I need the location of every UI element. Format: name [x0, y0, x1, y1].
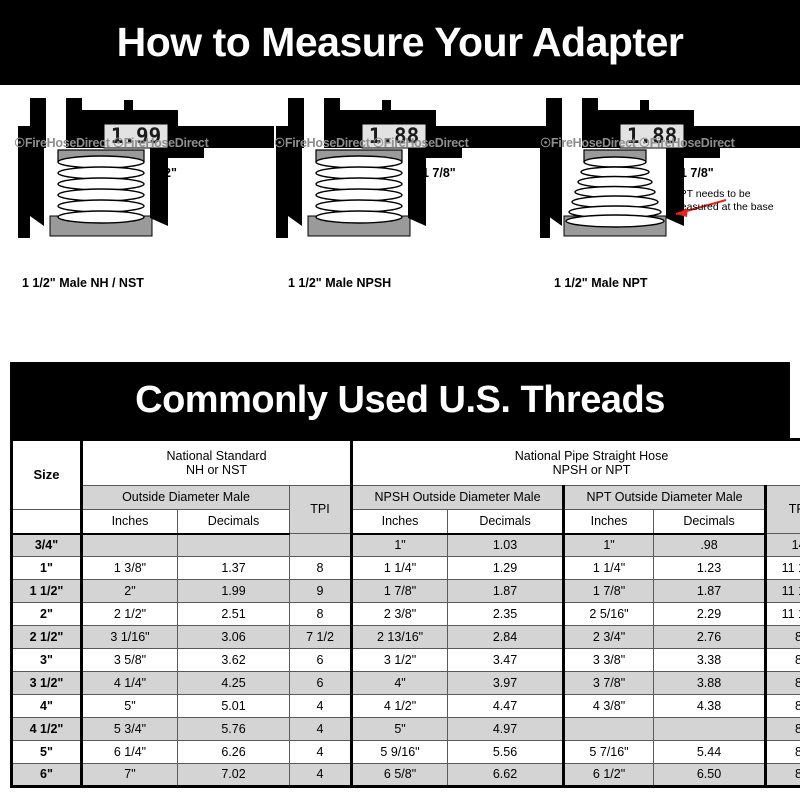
cell-nh-decimals: 2.51: [178, 603, 290, 626]
cell-nh-decimals: 6.26: [178, 741, 290, 764]
cell-npt-inches: 1 7/8": [564, 580, 654, 603]
cell-npt-decimals: 1.87: [654, 580, 766, 603]
cell-size: 3": [12, 649, 82, 672]
col-header-npt-decimals: Decimals: [654, 510, 766, 534]
table-row: 3 1/2"4 1/4"4.2564"3.973 7/8"3.888: [12, 672, 800, 695]
table-row: 2 1/2"3 1/16"3.067 1/22 13/16"2.842 3/4"…: [12, 626, 800, 649]
table-header-row-groups: Size National Standard NH or NST Nationa…: [12, 440, 800, 486]
cell-npt-inches: 6 1/2": [564, 764, 654, 787]
table-row: 5"6 1/4"6.2645 9/16"5.565 7/16"5.448: [12, 741, 800, 764]
measurement-label-nh: 2": [164, 166, 177, 180]
caliper-diagram-strip: FireHoseDirect: [0, 88, 800, 356]
cell-np-tpi: 8: [766, 764, 800, 787]
col-header-np-tpi: TPI: [766, 486, 800, 534]
cell-npsh-inches: 6 5/8": [352, 764, 448, 787]
cell-np-tpi: 14: [766, 534, 800, 557]
caliper-caption-nh: 1 1/2" Male NH / NST: [22, 276, 144, 290]
table-row: 3/4"1"1.031".9814: [12, 534, 800, 557]
col-header-nh-decimals: Decimals: [178, 510, 290, 534]
cell-nh-inches: 4 1/4": [82, 672, 178, 695]
cell-npt-decimals: 3.38: [654, 649, 766, 672]
col-header-size-blank: [12, 510, 82, 534]
cell-nh-tpi: 9: [290, 580, 352, 603]
npt-note-line1: NPT needs to be: [672, 188, 751, 201]
table-row: 2"2 1/2"2.5182 3/8"2.352 5/16"2.2911 1/2: [12, 603, 800, 626]
cell-npt-decimals: [654, 718, 766, 741]
col-header-nh-tpi: TPI: [290, 486, 352, 534]
table-row: 4 1/2"5 3/4"5.7645"4.978: [12, 718, 800, 741]
measurement-label-npt: 1 7/8": [680, 166, 714, 180]
table-row: 1 1/2"2"1.9991 7/8"1.871 7/8"1.8711 1/2: [12, 580, 800, 603]
cell-nh-decimals: 3.62: [178, 649, 290, 672]
cell-npsh-inches: 1 7/8": [352, 580, 448, 603]
cell-npsh-inches: 3 1/2": [352, 649, 448, 672]
cell-nh-decimals: [178, 534, 290, 557]
cell-nh-decimals: 3.06: [178, 626, 290, 649]
cell-size: 4": [12, 695, 82, 718]
cell-npt-decimals: 4.38: [654, 695, 766, 718]
table-body: 3/4"1"1.031".98141"1 3/8"1.3781 1/4"1.29…: [12, 534, 800, 787]
caliper-caption-npt: 1 1/2" Male NPT: [554, 276, 647, 290]
cell-np-tpi: 8: [766, 718, 800, 741]
cell-npsh-decimals: 3.47: [448, 649, 564, 672]
diagram-npt: 1.88 ☉FireHoseDirect ☉FireHoseDirect 1 7…: [540, 88, 800, 356]
cell-nh-inches: 5 3/4": [82, 718, 178, 741]
group-nh-line2: NH or NST: [186, 463, 247, 477]
cell-nh-inches: [82, 534, 178, 557]
caliper-illustration-npt: 1.88: [540, 88, 800, 278]
cell-size: 4 1/2": [12, 718, 82, 741]
col-header-nh-od: Outside Diameter Male: [82, 486, 290, 510]
thread-profile-tapered: [566, 150, 664, 227]
page-title: How to Measure Your Adapter: [117, 22, 684, 63]
table-row: 4"5"5.0144 1/2"4.474 3/8"4.388: [12, 695, 800, 718]
threads-title-banner: Commonly Used U.S. Threads: [10, 362, 790, 438]
cell-npsh-decimals: 1.87: [448, 580, 564, 603]
caliper-illustration-nh: 1.99: [8, 88, 274, 278]
cell-npt-decimals: 6.50: [654, 764, 766, 787]
page-title-banner: How to Measure Your Adapter: [0, 0, 800, 85]
col-header-nh-inches: Inches: [82, 510, 178, 534]
cell-nh-tpi: 4: [290, 741, 352, 764]
cell-npsh-inches: 1 1/4": [352, 557, 448, 580]
cell-nh-tpi: 4: [290, 718, 352, 741]
cell-nh-decimals: 1.99: [178, 580, 290, 603]
cell-nh-inches: 6 1/4": [82, 741, 178, 764]
cell-size: 3/4": [12, 534, 82, 557]
cell-nh-tpi: 6: [290, 649, 352, 672]
cell-npt-inches: 4 3/8": [564, 695, 654, 718]
cell-npt-inches: 1": [564, 534, 654, 557]
beam-watermark-nh: ☉FireHoseDirect ☉FireHoseDirect: [14, 134, 274, 152]
cell-npt-inches: 3 7/8": [564, 672, 654, 695]
cell-np-tpi: 8: [766, 649, 800, 672]
table-header-row-sub: Outside Diameter Male TPI NPSH Outside D…: [12, 486, 800, 510]
col-header-group-nh: National Standard NH or NST: [82, 440, 352, 486]
cell-size: 1": [12, 557, 82, 580]
cell-nh-inches: 7": [82, 764, 178, 787]
cell-nh-tpi: 8: [290, 557, 352, 580]
cell-size: 1 1/2": [12, 580, 82, 603]
cell-nh-tpi: 7 1/2: [290, 626, 352, 649]
cell-np-tpi: 8: [766, 672, 800, 695]
cell-size: 6": [12, 764, 82, 787]
cell-npsh-decimals: 6.62: [448, 764, 564, 787]
cell-npsh-decimals: 1.29: [448, 557, 564, 580]
cell-size: 2 1/2": [12, 626, 82, 649]
col-header-npt-od: NPT Outside Diameter Male: [564, 486, 766, 510]
table-header-row-units: Inches Decimals Inches Decimals Inches D…: [12, 510, 800, 534]
cell-npt-inches: [564, 718, 654, 741]
cell-npsh-inches: 5 9/16": [352, 741, 448, 764]
caliper-illustration-npsh: 1.88: [274, 88, 540, 278]
table-row: 1"1 3/8"1.3781 1/4"1.291 1/4"1.2311 1/2: [12, 557, 800, 580]
cell-nh-tpi: 4: [290, 695, 352, 718]
cell-npt-inches: 1 1/4": [564, 557, 654, 580]
group-nh-line1: National Standard: [166, 449, 266, 463]
cell-np-tpi: 8: [766, 695, 800, 718]
col-header-npsh-decimals: Decimals: [448, 510, 564, 534]
cell-npt-decimals: 2.76: [654, 626, 766, 649]
cell-nh-inches: 5": [82, 695, 178, 718]
group-np-line2: NPSH or NPT: [553, 463, 631, 477]
thread-profile-straight: [316, 150, 402, 223]
cell-npsh-decimals: 5.56: [448, 741, 564, 764]
threads-table: Size National Standard NH or NST Nationa…: [10, 438, 800, 788]
cell-nh-inches: 2": [82, 580, 178, 603]
cell-npt-decimals: 2.29: [654, 603, 766, 626]
cell-nh-decimals: 5.76: [178, 718, 290, 741]
cell-npsh-inches: 2 3/8": [352, 603, 448, 626]
cell-np-tpi: 11 1/2: [766, 580, 800, 603]
col-header-npt-inches: Inches: [564, 510, 654, 534]
cell-npsh-inches: 2 13/16": [352, 626, 448, 649]
caliper-caption-npsh: 1 1/2" Male NPSH: [288, 276, 391, 290]
col-header-npsh-inches: Inches: [352, 510, 448, 534]
table-head: Size National Standard NH or NST Nationa…: [12, 440, 800, 534]
cell-nh-tpi: 4: [290, 764, 352, 787]
measurement-label-npsh: 1 7/8": [422, 166, 456, 180]
cell-nh-inches: 1 3/8": [82, 557, 178, 580]
cell-npt-inches: 2 5/16": [564, 603, 654, 626]
cell-np-tpi: 8: [766, 741, 800, 764]
npt-note-line2: measured at the base: [672, 201, 774, 214]
cell-nh-tpi: [290, 534, 352, 557]
beam-watermark-npt: ☉FireHoseDirect ☉FireHoseDirect: [540, 134, 800, 152]
cell-nh-tpi: 6: [290, 672, 352, 695]
cell-npsh-inches: 4": [352, 672, 448, 695]
cell-np-tpi: 8: [766, 626, 800, 649]
cell-npt-decimals: 5.44: [654, 741, 766, 764]
cell-npt-inches: 2 3/4": [564, 626, 654, 649]
infographic-page: How to Measure Your Adapter FireHoseDire…: [0, 0, 800, 800]
cell-np-tpi: 11 1/2: [766, 603, 800, 626]
col-header-npsh-od: NPSH Outside Diameter Male: [352, 486, 564, 510]
cell-np-tpi: 11 1/2: [766, 557, 800, 580]
cell-npsh-inches: 1": [352, 534, 448, 557]
cell-nh-inches: 3 5/8": [82, 649, 178, 672]
cell-npsh-decimals: 4.47: [448, 695, 564, 718]
cell-npsh-decimals: 3.97: [448, 672, 564, 695]
cell-npsh-decimals: 4.97: [448, 718, 564, 741]
cell-nh-decimals: 7.02: [178, 764, 290, 787]
cell-npsh-decimals: 2.35: [448, 603, 564, 626]
cell-nh-decimals: 4.25: [178, 672, 290, 695]
cell-nh-decimals: 5.01: [178, 695, 290, 718]
cell-npsh-inches: 5": [352, 718, 448, 741]
diagram-nh-nst: 1.99 ☉FireHoseDirect ☉FireHoseDirect 2" …: [8, 88, 274, 356]
diagram-npsh: 1.88 ☉FireHoseDirect ☉FireHoseDirect 1 7…: [274, 88, 540, 356]
col-header-group-np: National Pipe Straight Hose NPSH or NPT: [352, 440, 800, 486]
cell-npsh-decimals: 1.03: [448, 534, 564, 557]
table-row: 3"3 5/8"3.6263 1/2"3.473 3/8"3.388: [12, 649, 800, 672]
cell-size: 5": [12, 741, 82, 764]
cell-nh-tpi: 8: [290, 603, 352, 626]
table-row: 6"7"7.0246 5/8"6.626 1/2"6.508: [12, 764, 800, 787]
cell-npt-decimals: .98: [654, 534, 766, 557]
cell-size: 3 1/2": [12, 672, 82, 695]
cell-npsh-decimals: 2.84: [448, 626, 564, 649]
cell-npt-inches: 3 3/8": [564, 649, 654, 672]
cell-npsh-inches: 4 1/2": [352, 695, 448, 718]
beam-watermark-npsh: ☉FireHoseDirect ☉FireHoseDirect: [274, 134, 540, 152]
col-header-size: Size: [12, 440, 82, 510]
cell-nh-inches: 2 1/2": [82, 603, 178, 626]
cell-nh-inches: 3 1/16": [82, 626, 178, 649]
cell-npt-decimals: 3.88: [654, 672, 766, 695]
cell-npt-inches: 5 7/16": [564, 741, 654, 764]
threads-title: Commonly Used U.S. Threads: [135, 381, 665, 419]
cell-size: 2": [12, 603, 82, 626]
cell-npt-decimals: 1.23: [654, 557, 766, 580]
group-np-line1: National Pipe Straight Hose: [515, 449, 669, 463]
cell-nh-decimals: 1.37: [178, 557, 290, 580]
